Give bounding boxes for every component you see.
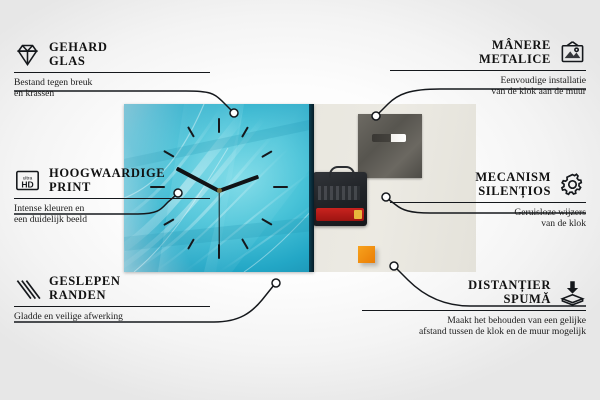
callout-title: GEHARD GLAS: [49, 40, 107, 68]
callout-description: Intense kleuren en een duidelijk beeld: [14, 203, 244, 226]
callout-title: HOOGWAARDIGE PRINT: [49, 166, 165, 194]
callout-title: MECANISM SILENȚIOS: [475, 170, 551, 198]
callout-gehard-glas: GEHARD GLAS Bestand tegen breuk en krass…: [14, 40, 244, 100]
callout-rule: [362, 310, 586, 311]
tick-mark: [218, 118, 220, 133]
callout-geslepen-randen: GESLEPEN RANDEN Gladde en veilige afwerk…: [14, 274, 244, 322]
callout-header: GESLEPEN RANDEN: [14, 274, 244, 302]
callout-manere-metalice: MÂNERE METALICE Eenvoudige installatie v…: [356, 38, 586, 98]
hanger-loop: [329, 166, 355, 178]
movement-label: [318, 186, 360, 200]
callout-header: GEHARD GLAS: [14, 40, 244, 68]
callout-distantier-spuma: DISTANȚIER SPUMĂ Maakt het behouden van …: [356, 278, 586, 338]
callout-description: Maakt het behouden van een gelijke afsta…: [356, 315, 586, 338]
callout-rule: [14, 198, 210, 199]
diamond-icon: [14, 41, 41, 68]
clock-side-edge: [309, 104, 314, 272]
callout-rule: [14, 306, 210, 307]
hanger-slot: [372, 134, 406, 142]
callout-title: GESLEPEN RANDEN: [49, 274, 121, 302]
callout-description: Gladde en veilige afwerking: [14, 311, 244, 322]
svg-text:HD: HD: [21, 179, 33, 189]
spacer-arrow-icon: [559, 279, 586, 306]
callout-rule: [390, 202, 586, 203]
foam-spacer: [358, 246, 375, 263]
callout-header: MÂNERE METALICE: [356, 38, 586, 66]
callout-description: Eenvoudige installatie van de klok aan d…: [356, 75, 586, 98]
ultra-hd-icon: ultra HD: [14, 167, 41, 194]
beveled-edges-icon: [14, 275, 41, 302]
tick-mark: [273, 186, 288, 188]
callout-header: DISTANȚIER SPUMĂ: [356, 278, 586, 306]
metal-hanger: [358, 114, 422, 178]
gear-icon: [559, 171, 586, 198]
callout-title: MÂNERE METALICE: [479, 38, 551, 66]
callout-description: Bestand tegen breuk en krassen: [14, 77, 244, 100]
callout-hoogwaardige-print: ultra HD HOOGWAARDIGE PRINT Intense kleu…: [14, 166, 244, 226]
connector-dot: [272, 279, 280, 287]
wall-frame-icon: [559, 39, 586, 66]
callout-header: MECANISM SILENȚIOS: [356, 170, 586, 198]
callout-description: Geruisloze wijzers van de klok: [356, 207, 586, 230]
callout-mecanism-silentios: MECANISM SILENȚIOS Geruisloze wijzers va…: [356, 170, 586, 230]
callout-rule: [14, 72, 210, 73]
callout-rule: [390, 70, 586, 71]
callout-header: ultra HD HOOGWAARDIGE PRINT: [14, 166, 244, 194]
callout-title: DISTANȚIER SPUMĂ: [468, 278, 551, 306]
infographic-canvas: GEHARD GLAS Bestand tegen breuk en krass…: [0, 0, 600, 400]
